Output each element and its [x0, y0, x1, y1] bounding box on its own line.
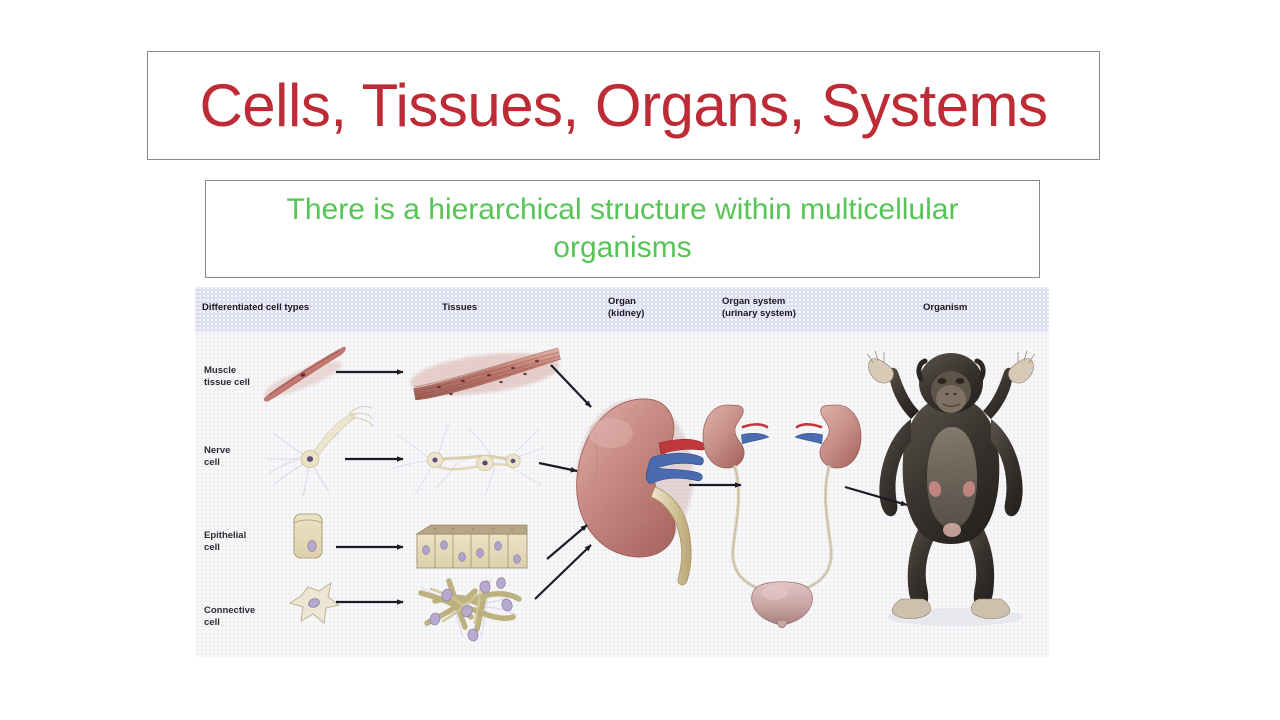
- muscle-cell-illustration: [261, 347, 346, 403]
- nerve-tissue-illustration: [391, 423, 545, 495]
- arrow-organ-system-to-organism: [845, 487, 907, 505]
- arrow-muscle-tissue-to-organ: [551, 365, 591, 407]
- kidney-organ-illustration: [577, 399, 706, 585]
- urinary-right-kidney: [795, 405, 861, 468]
- diagram-illustrations: [195, 287, 1049, 657]
- subtitle-text: There is a hierarchical structure within…: [224, 191, 1021, 268]
- nerve-cell-illustration: [267, 406, 374, 497]
- urinary-left-kidney: [703, 405, 769, 468]
- page-title: Cells, Tissues, Organs, Systems: [199, 76, 1047, 136]
- epithelial-cell-illustration: [294, 514, 322, 558]
- organism-illustration: [867, 351, 1035, 626]
- connective-cell-illustration: [290, 583, 339, 623]
- hierarchy-diagram: Differentiated cell types Tissues Organ …: [195, 287, 1049, 657]
- arrow-connective-tissue-to-organ: [535, 545, 591, 599]
- connective-tissue-illustration: [421, 577, 519, 642]
- subtitle-box: There is a hierarchical structure within…: [205, 180, 1040, 278]
- muscle-tissue-illustration: [408, 346, 562, 402]
- title-box: Cells, Tissues, Organs, Systems: [147, 51, 1100, 160]
- arrow-nerve-tissue-to-organ: [539, 463, 577, 471]
- urinary-system-illustration: [703, 405, 861, 628]
- epithelial-tissue-illustration: [417, 525, 527, 568]
